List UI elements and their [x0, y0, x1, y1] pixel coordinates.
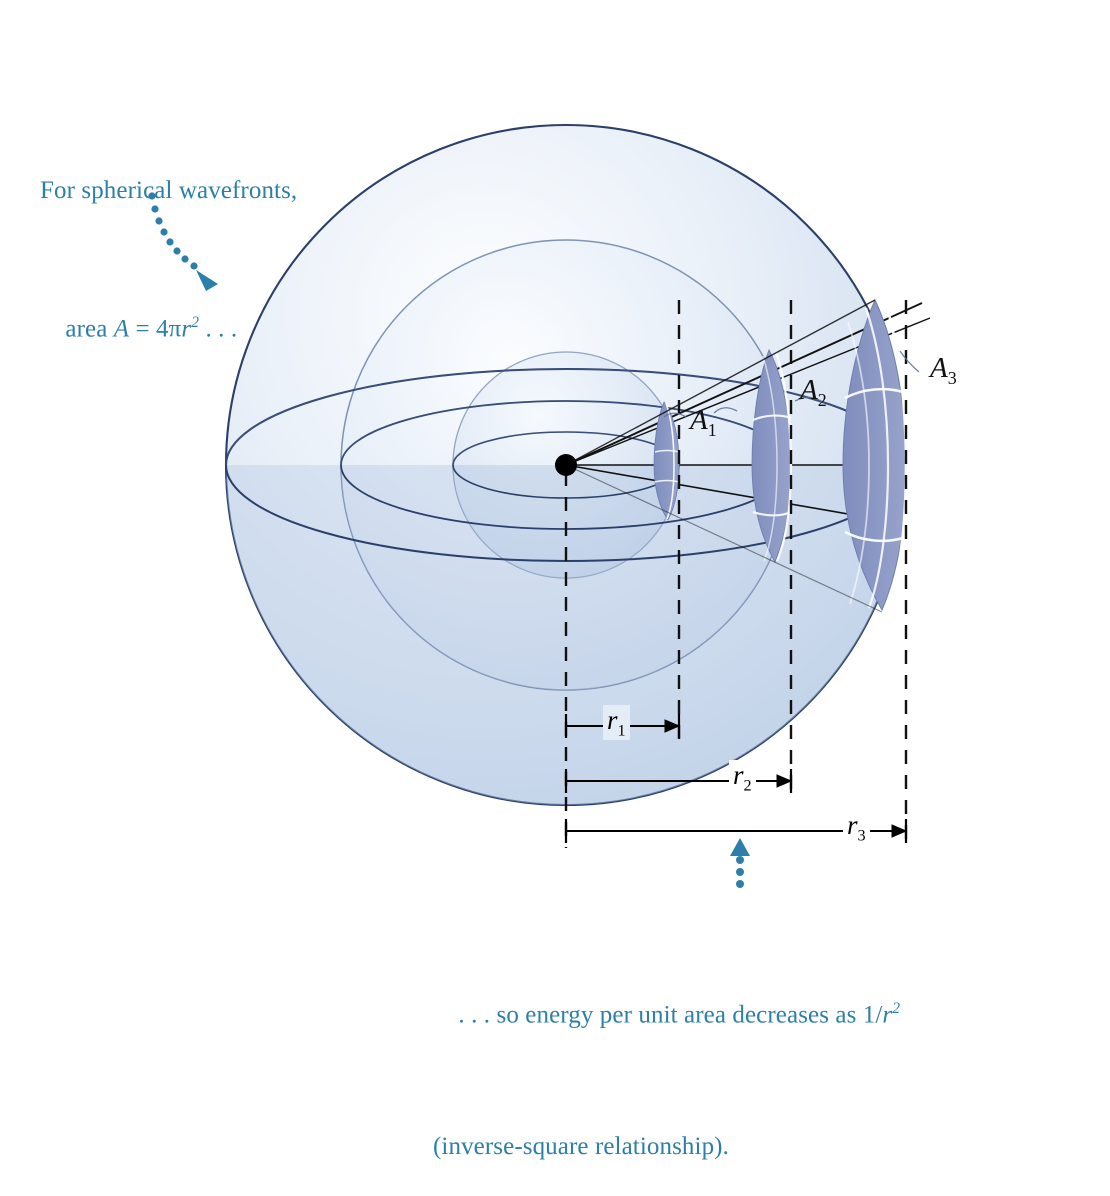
top-annotation-text: For spherical wavefronts, area A = 4πr2 … — [40, 108, 297, 411]
top-annotation-line2: area A = 4πr2 . . . — [40, 273, 297, 378]
area-label-a2: A2 — [800, 374, 827, 411]
bottom-annotation-prefix: . . . so energy per unit area decreases … — [458, 1001, 882, 1028]
radius-label-r2: r2 — [729, 760, 756, 795]
top-annotation-ellipsis: . . . — [199, 315, 237, 342]
radius-label-r3: r3 — [843, 810, 870, 845]
point-source-dot — [555, 454, 577, 476]
top-annotation-exponent: 2 — [191, 314, 199, 331]
bottom-annotation-line2: (inverse-square relationship). — [433, 1130, 900, 1163]
top-annotation-A: A — [114, 315, 129, 342]
bottom-annotation-pointer-icon — [730, 838, 750, 888]
top-annotation-area-word: area — [65, 315, 113, 342]
top-annotation-eq: = 4π — [129, 315, 181, 342]
area-label-a3: A3 — [930, 352, 957, 389]
radius-label-r1: r1 — [603, 705, 630, 740]
bottom-annotation-line1: . . . so energy per unit area decreases … — [433, 959, 900, 1064]
top-annotation-line1: For spherical wavefronts, — [40, 174, 297, 207]
area-label-a1: A1 — [690, 404, 717, 441]
bottom-annotation-r: r — [882, 1001, 892, 1028]
bottom-annotation-exponent: 2 — [892, 1000, 900, 1017]
bottom-annotation-text: . . . so energy per unit area decreases … — [433, 893, 900, 1196]
top-annotation-r: r — [181, 315, 191, 342]
